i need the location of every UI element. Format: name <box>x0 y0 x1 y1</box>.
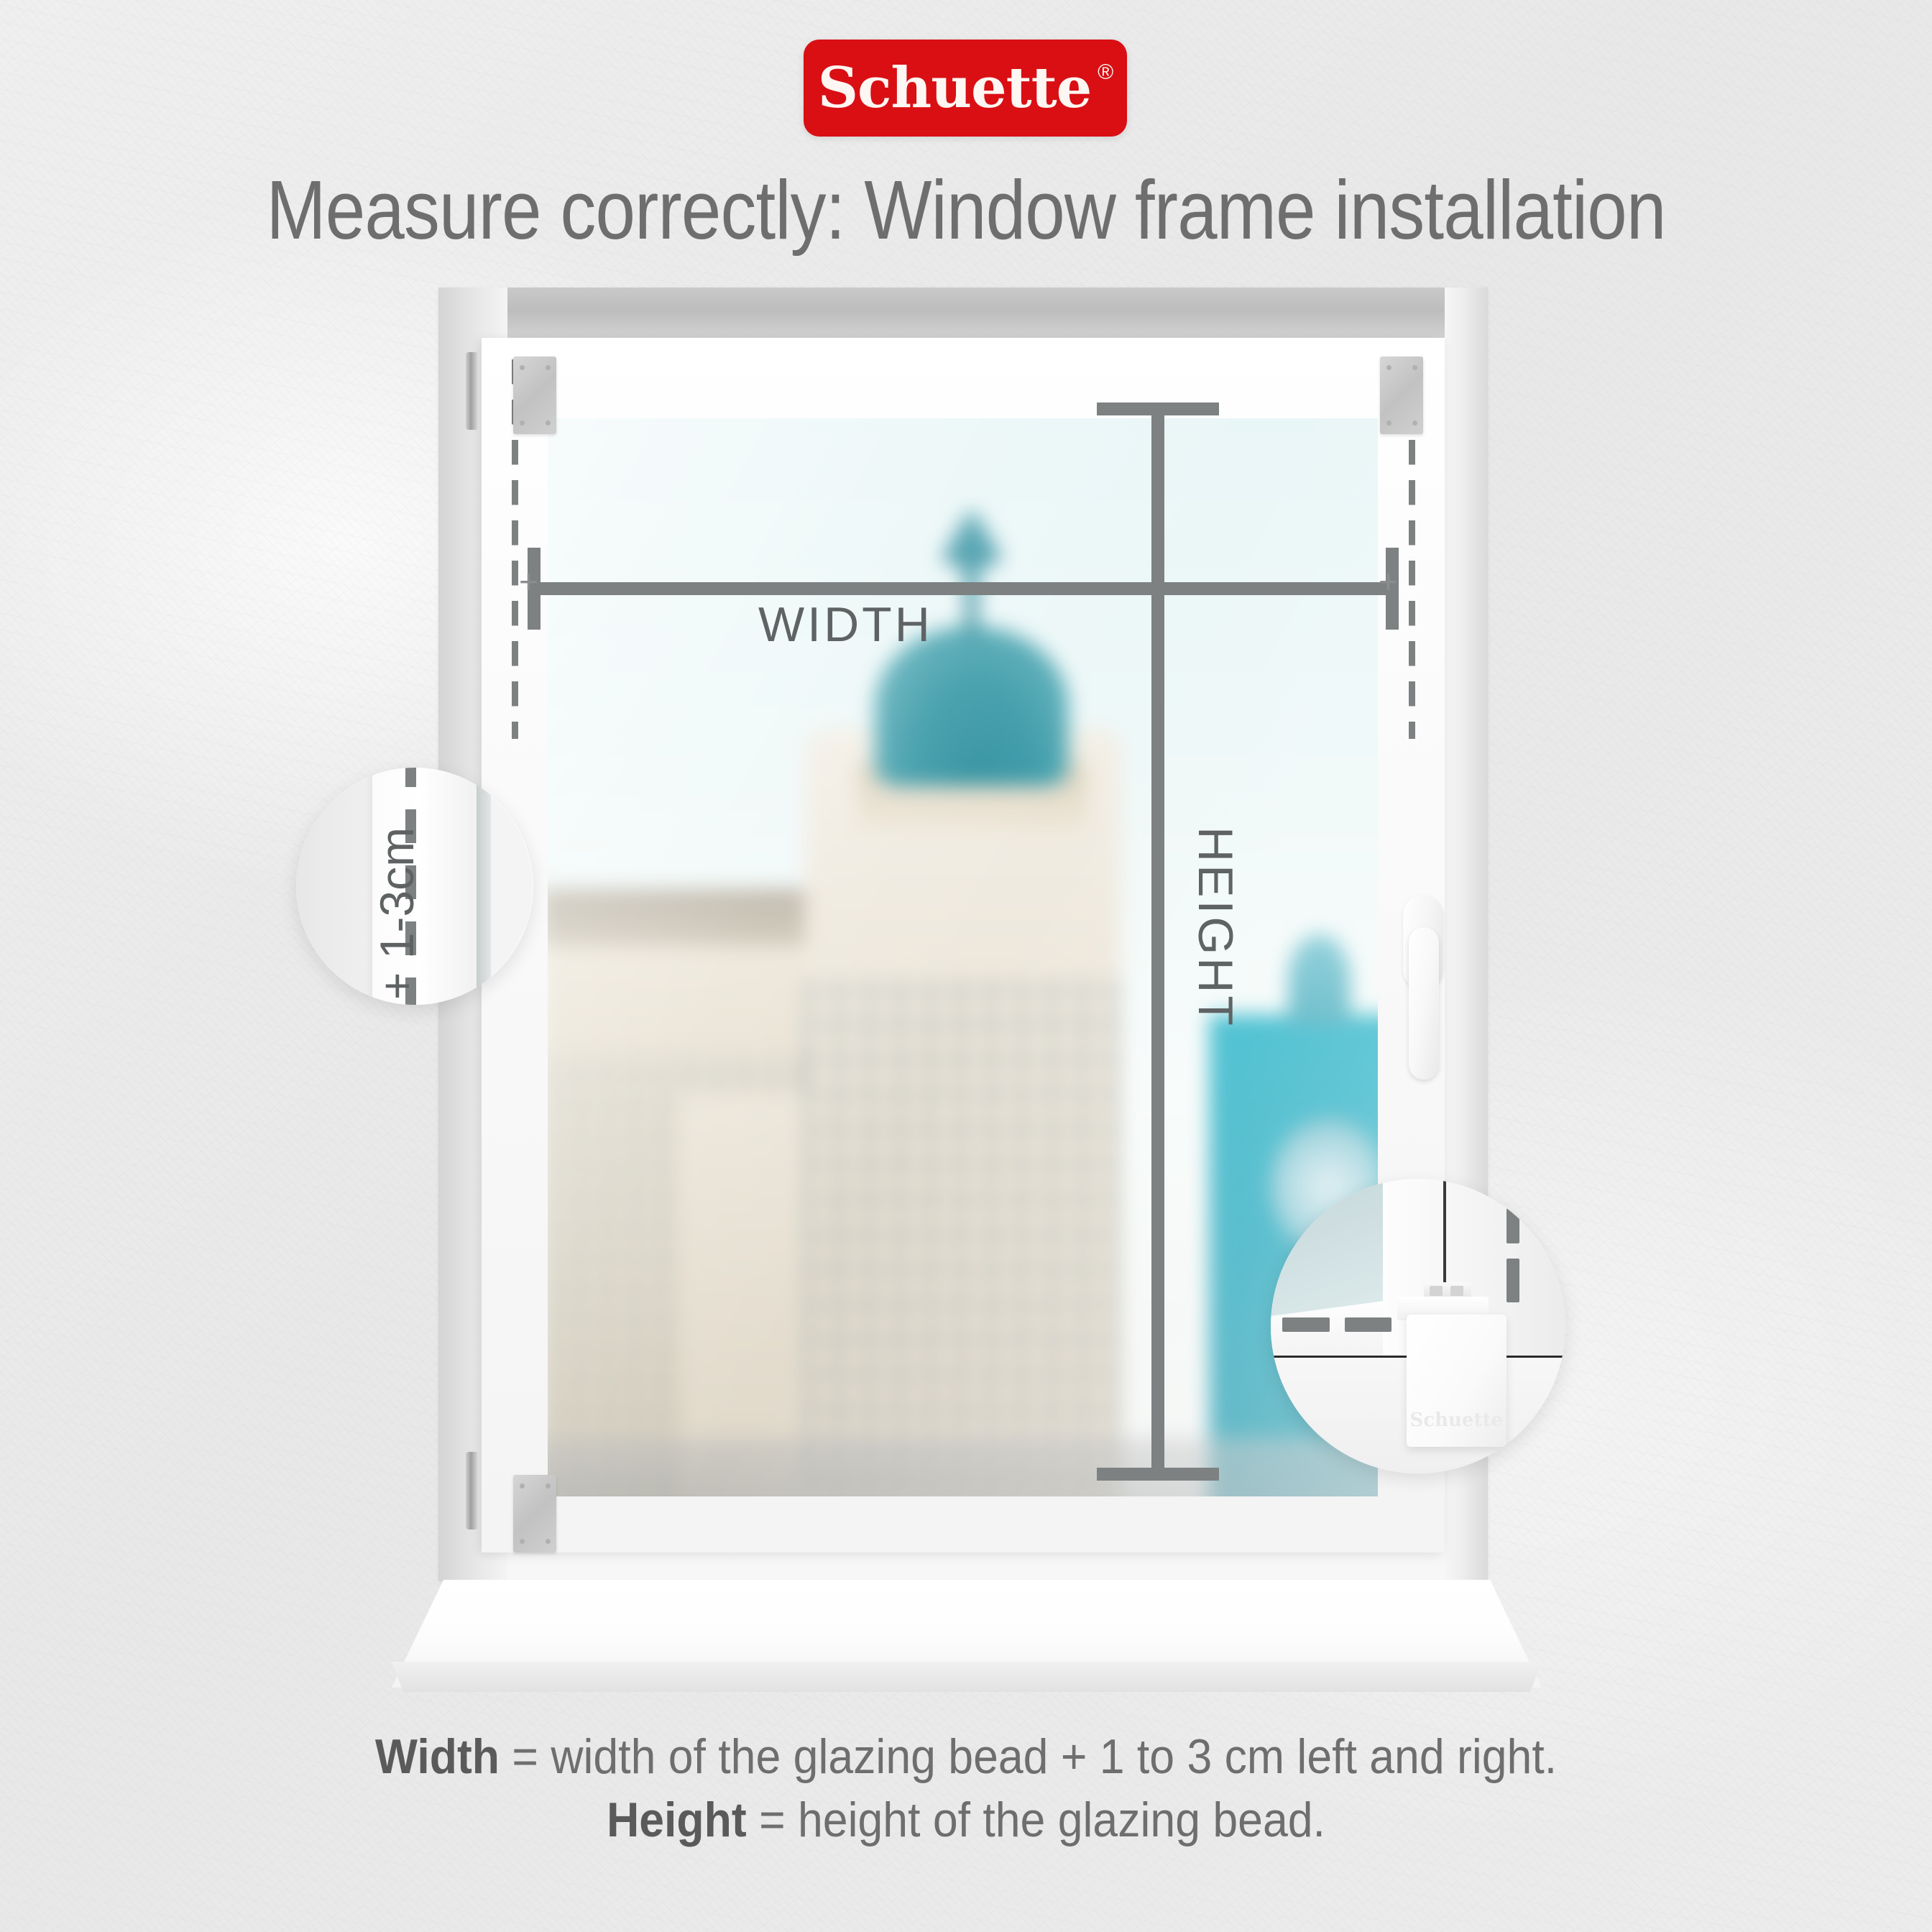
width-measure-line <box>528 582 1399 595</box>
bracket-bottom-left <box>513 1475 556 1552</box>
caption-block: Width = width of the glazing bead + 1 to… <box>0 1725 1932 1852</box>
brand-name: Schuette <box>818 55 1092 121</box>
callout-right-dash-h2 <box>1345 1317 1392 1333</box>
bracket-top-right <box>1380 356 1423 434</box>
building-teal-top <box>1289 934 1351 1026</box>
callout-right-dash-v1 <box>1506 1208 1519 1243</box>
caption-line-width: Width = width of the glazing bead + 1 to… <box>78 1725 1855 1788</box>
page-title: Measure correctly: Window frame installa… <box>135 162 1797 258</box>
caption-height-key: Height <box>607 1793 747 1847</box>
right-plus-marker: + <box>1379 565 1398 598</box>
callout-right-dash-v2 <box>1506 1259 1519 1303</box>
left-plus-marker: + <box>519 565 538 598</box>
height-measure-cap-top <box>1097 402 1219 415</box>
registered-trademark-icon: ® <box>1098 62 1113 83</box>
building-far <box>681 1095 822 1496</box>
window-handle-lever[interactable] <box>1409 927 1439 1080</box>
callout-right-blind-cord <box>1443 1179 1446 1285</box>
city-view-image <box>548 418 1378 1496</box>
bracket-brand-label: Schuette <box>1410 1409 1504 1431</box>
building-left-roof <box>548 889 839 947</box>
width-label: WIDTH <box>758 597 933 653</box>
callout-left-wall <box>296 768 374 1005</box>
bracket-top-left <box>513 356 556 434</box>
window-hinge-bottom <box>466 1452 479 1529</box>
callout-right-bracket-body: Schuette <box>1407 1315 1506 1448</box>
building-main-windows <box>804 980 1121 1483</box>
callout-left-glass-edge <box>477 768 491 1005</box>
street <box>548 1437 1378 1496</box>
window-hinge-top <box>466 352 479 430</box>
window-glass <box>548 418 1378 1496</box>
callout-right-dash-h1 <box>1282 1317 1330 1333</box>
caption-line-height: Height = height of the glazing bead. <box>78 1788 1855 1851</box>
brand-logo: Schuette® <box>804 40 1127 137</box>
height-measure-cap-bottom <box>1097 1468 1219 1481</box>
caption-width-key: Width <box>375 1729 500 1784</box>
caption-height-text: = height of the glazing bead. <box>747 1793 1325 1847</box>
window-sill-edge <box>392 1662 1542 1692</box>
bracket-detail-magnifier: Schuette <box>1271 1179 1565 1473</box>
brand-logo-text: Schuette® <box>818 60 1113 116</box>
height-measure-line <box>1151 402 1164 1481</box>
caption-width-text: = width of the glazing bead + 1 to 3 cm … <box>500 1729 1557 1784</box>
tolerance-callout-label: + 1-3cm <box>369 827 424 1000</box>
tolerance-callout-magnifier: + 1-3cm <box>296 768 533 1005</box>
height-label: HEIGHT <box>1187 827 1243 1029</box>
